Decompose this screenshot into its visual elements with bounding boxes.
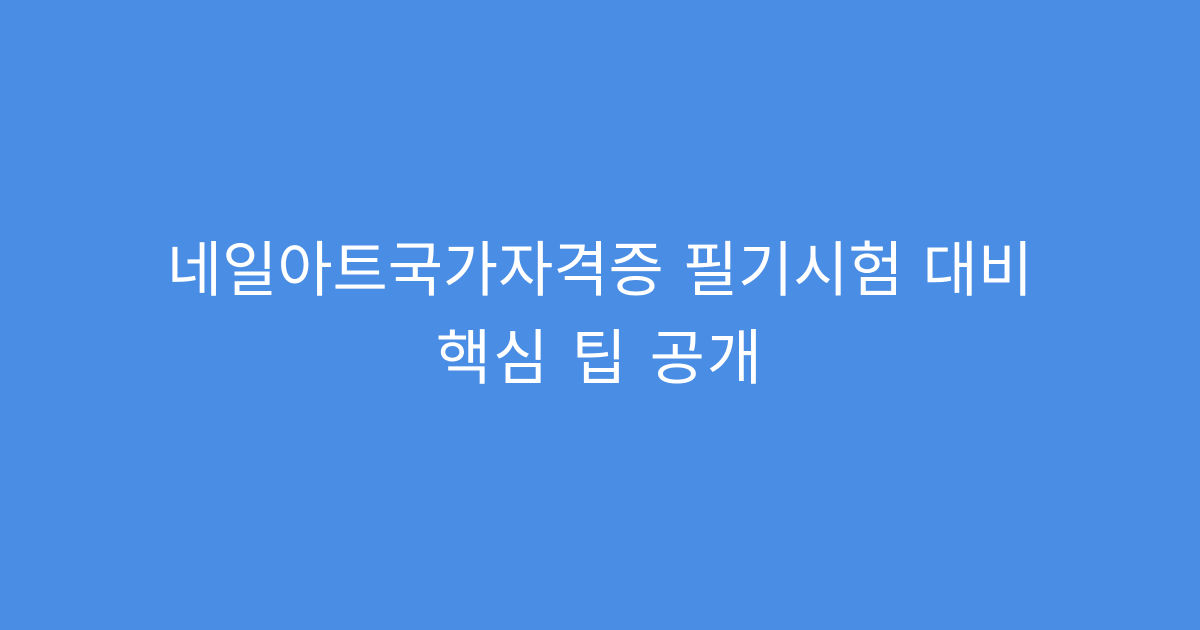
banner-card: 네일아트국가자격증 필기시험 대비 핵심 팁 공개 (0, 0, 1200, 630)
headline-line-2: 핵심 팁 공개 (70, 315, 1130, 403)
headline-block: 네일아트국가자격증 필기시험 대비 핵심 팁 공개 (50, 227, 1150, 403)
headline-line-1: 네일아트국가자격증 필기시험 대비 (70, 227, 1130, 315)
